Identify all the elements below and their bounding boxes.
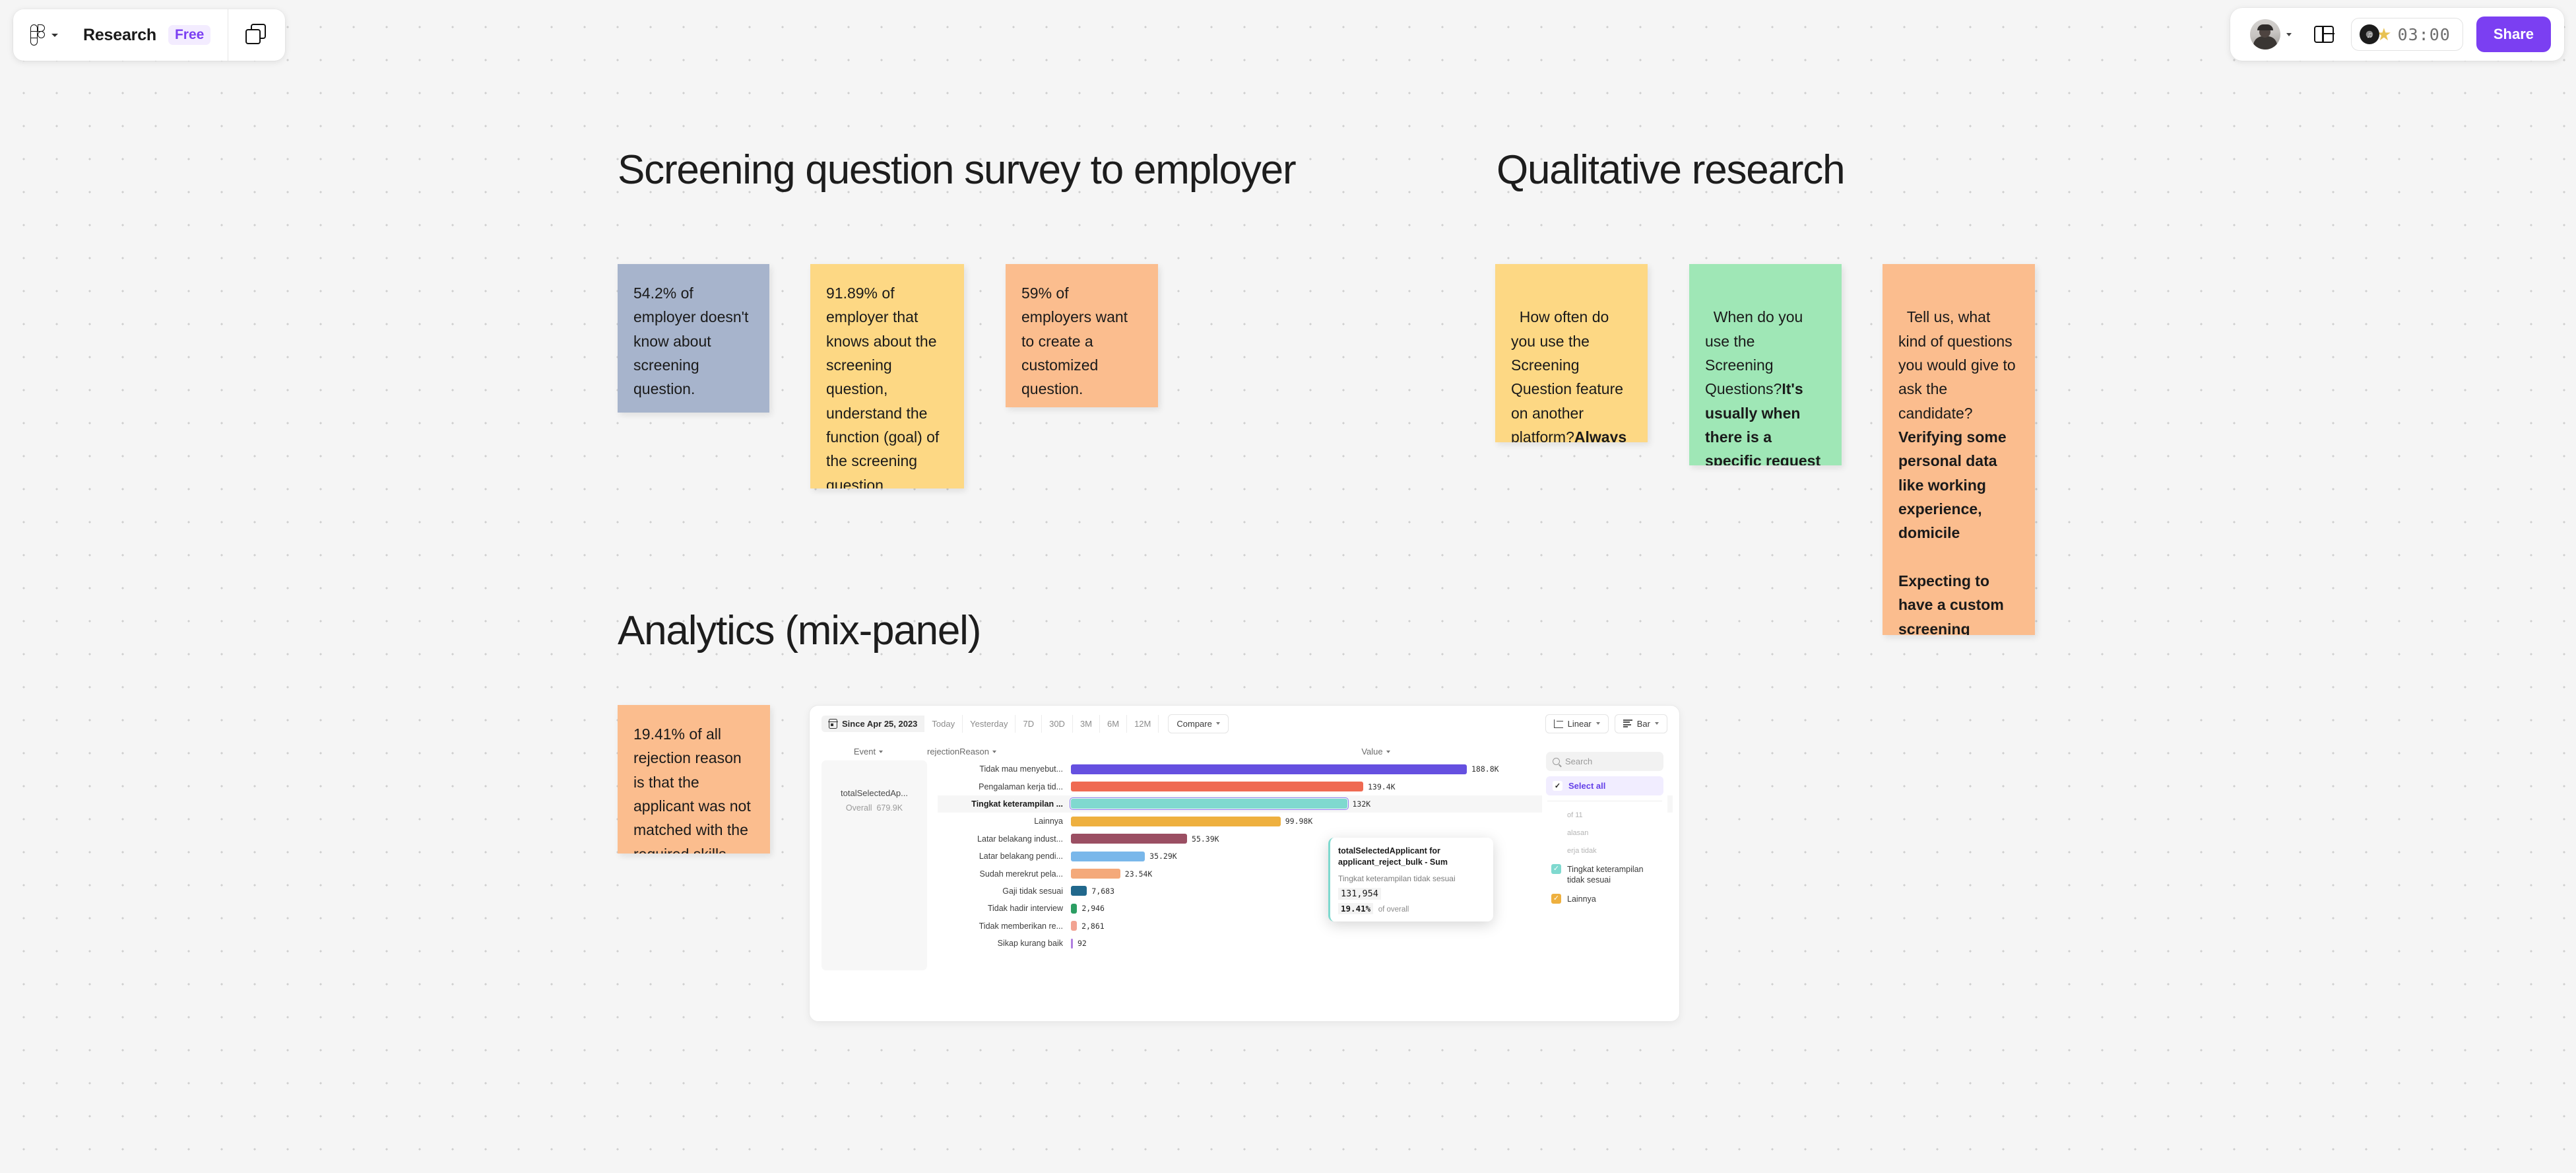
chart-controls: Linear Bar bbox=[1545, 714, 1667, 733]
checkbox-checked-icon[interactable]: ✓ bbox=[1553, 781, 1562, 791]
time-preset-yesterday[interactable]: Yesterday bbox=[963, 715, 1015, 733]
calendar-icon bbox=[829, 719, 837, 729]
divider bbox=[1547, 801, 1662, 801]
chevron-down-icon bbox=[1596, 722, 1600, 725]
time-preset-12m[interactable]: 12M bbox=[1127, 715, 1159, 733]
plan-badge[interactable]: Free bbox=[168, 25, 210, 45]
legend-items: ✓of 11✓alasan✓erja tidak✓Tingkat keteram… bbox=[1546, 807, 1663, 908]
chart-bar-wrap: 92 bbox=[1071, 939, 1673, 949]
chart-row-label: Lainnya bbox=[938, 817, 1071, 826]
page-title[interactable]: Research bbox=[83, 26, 156, 45]
select-all-label: Select all bbox=[1568, 781, 1605, 791]
mixpanel-toolbar: Since Apr 25, 2023 Today Yesterday 7D 30… bbox=[810, 706, 1679, 736]
chart-row-label: Pengalaman kerja tid... bbox=[938, 782, 1071, 791]
chevron-down-icon bbox=[1216, 722, 1220, 725]
sticky-question: How often do you use the Screening Quest… bbox=[1511, 308, 1627, 442]
chart-type-dropdown[interactable]: Bar bbox=[1615, 714, 1667, 733]
chart-bar[interactable] bbox=[1071, 904, 1077, 914]
sticky-note[interactable]: How often do you use the Screening Quest… bbox=[1495, 264, 1648, 442]
chart-type-label: Bar bbox=[1637, 719, 1650, 729]
user-avatar-group[interactable] bbox=[2250, 19, 2292, 50]
chart-bar[interactable] bbox=[1071, 852, 1145, 861]
checkbox-checked-icon[interactable]: ✓ bbox=[1551, 864, 1561, 874]
event-overall: Overall 679.9K bbox=[821, 803, 927, 813]
timer-display[interactable]: 03:00 bbox=[2398, 25, 2451, 44]
search-icon bbox=[1553, 758, 1560, 765]
chevron-down-icon[interactable] bbox=[51, 34, 58, 37]
chevron-down-icon bbox=[992, 751, 996, 753]
legend-item[interactable]: ✓Tingkat keterampilan tidak sesuai bbox=[1546, 860, 1663, 890]
pages-icon[interactable] bbox=[245, 24, 268, 46]
chart-bar[interactable] bbox=[1071, 869, 1120, 879]
chart-row[interactable]: Sikap kurang baik92 bbox=[938, 935, 1673, 952]
time-preset-30d[interactable]: 30D bbox=[1042, 715, 1073, 733]
legend-item-label: erja tidak bbox=[1567, 846, 1597, 855]
event-summary-box: totalSelectedAp... Overall 679.9K bbox=[821, 760, 927, 970]
column-header-value-label: Value bbox=[1361, 747, 1382, 756]
compare-label: Compare bbox=[1176, 719, 1211, 729]
sticky-note[interactable]: 54.2% of employer doesn't know about scr… bbox=[618, 264, 769, 413]
chevron-down-icon bbox=[1386, 751, 1390, 753]
legend-item-label: of 11 bbox=[1567, 811, 1583, 820]
chart-bar-value: 2,946 bbox=[1081, 904, 1105, 913]
search-placeholder: Search bbox=[1565, 756, 1592, 766]
scale-dropdown[interactable]: Linear bbox=[1545, 714, 1609, 733]
chart-row-label: Tidak mau menyebut... bbox=[938, 764, 1071, 774]
chart-bar[interactable] bbox=[1071, 817, 1281, 826]
section-heading-analytics: Analytics (mix-panel) bbox=[618, 607, 981, 654]
chart-bar-value: 139.4K bbox=[1368, 782, 1396, 791]
time-preset-7d[interactable]: 7D bbox=[1015, 715, 1042, 733]
scale-label: Linear bbox=[1568, 719, 1592, 729]
tooltip-percent-value: 19.41% bbox=[1338, 903, 1373, 914]
chart-row-label: Sikap kurang baik bbox=[938, 939, 1071, 948]
chart-bar-value: 7,683 bbox=[1091, 887, 1114, 896]
chart-row-label: Tidak memberikan re... bbox=[938, 922, 1071, 931]
legend-item[interactable]: ✓Lainnya bbox=[1546, 890, 1663, 908]
date-range-button[interactable]: Since Apr 25, 2023 bbox=[821, 716, 924, 732]
section-heading-qualitative: Qualitative research bbox=[1497, 147, 1844, 193]
tooltip-percent-suffix: of overall bbox=[1378, 906, 1409, 914]
chevron-down-icon bbox=[879, 751, 883, 753]
tooltip-percent: 19.41% of overall bbox=[1338, 904, 1484, 914]
chart-bar[interactable] bbox=[1071, 764, 1467, 774]
chart-bar-value: 2,861 bbox=[1081, 922, 1105, 931]
sticky-note[interactable]: 59% of employers want to create a custom… bbox=[1006, 264, 1158, 407]
chart-row-label: Tidak hadir interview bbox=[938, 904, 1071, 913]
legend-item-label: Tingkat keterampilan tidak sesuai bbox=[1567, 864, 1658, 886]
chart-bar-value: 92 bbox=[1078, 939, 1087, 948]
sticky-note[interactable]: 19.41% of all rejection reason is that t… bbox=[618, 705, 770, 854]
chart-bar[interactable] bbox=[1071, 886, 1087, 896]
layout-panel-icon[interactable] bbox=[2314, 26, 2334, 43]
date-range-label: Since Apr 25, 2023 bbox=[842, 719, 917, 729]
column-header-reason[interactable]: rejectionReason bbox=[927, 747, 1072, 756]
pages-group[interactable] bbox=[228, 9, 285, 61]
sticky-note[interactable]: When do you use the Screening Questions?… bbox=[1689, 264, 1842, 465]
menu-group[interactable]: Research Free bbox=[13, 9, 228, 61]
bar-chart-icon bbox=[1623, 720, 1632, 728]
sticky-answer: Verifying some personal data like workin… bbox=[1898, 428, 2011, 635]
chart-bar-value: 55.39K bbox=[1192, 834, 1219, 844]
chart-bar-wrap: 2,861 bbox=[1071, 921, 1673, 931]
toolbar-left: Research Free bbox=[13, 9, 285, 61]
legend-item[interactable]: ✓of 11 bbox=[1546, 807, 1663, 824]
toolbar-right: ♫ ★ 03:00 Share bbox=[2230, 8, 2564, 61]
event-name: totalSelectedAp... bbox=[821, 788, 927, 798]
column-header-event[interactable]: Event bbox=[810, 747, 927, 756]
chart-bar-value: 188.8K bbox=[1471, 764, 1499, 774]
chart-bar-value: 23.54K bbox=[1125, 869, 1153, 879]
legend-search[interactable]: Search bbox=[1546, 752, 1663, 771]
chart-row-label: Sudah merekrut pela... bbox=[938, 869, 1071, 879]
chart-row-label: Gaji tidak sesuai bbox=[938, 887, 1071, 896]
figjam-logo-icon bbox=[30, 24, 45, 46]
time-preset-6m[interactable]: 6M bbox=[1100, 715, 1127, 733]
chart-bar-value: 35.29K bbox=[1149, 852, 1177, 861]
checkbox-checked-icon[interactable]: ✓ bbox=[1551, 894, 1561, 904]
sticky-note[interactable]: Tell us, what kind of questions you woul… bbox=[1883, 264, 2035, 635]
legend-panel: Search ✓ Select all ✓of 11✓alasan✓erja t… bbox=[1542, 748, 1667, 912]
legend-item[interactable]: ✓alasan bbox=[1546, 824, 1663, 842]
column-header-event-label: Event bbox=[854, 747, 876, 756]
tooltip-title: totalSelectedApplicant for applicant_rej… bbox=[1338, 846, 1484, 869]
tooltip-value: 131,954 bbox=[1338, 888, 1381, 900]
legend-item[interactable]: ✓erja tidak bbox=[1546, 842, 1663, 860]
chart-bar-value: 132K bbox=[1352, 799, 1370, 809]
chart-bar[interactable] bbox=[1071, 799, 1347, 809]
chevron-down-icon[interactable] bbox=[2286, 33, 2292, 36]
chart-row[interactable]: Tidak memberikan re...2,861 bbox=[938, 918, 1673, 935]
time-preset-today[interactable]: Today bbox=[924, 715, 963, 733]
legend-item-label: Lainnya bbox=[1567, 894, 1596, 904]
chart-tooltip: totalSelectedApplicant for applicant_rej… bbox=[1328, 838, 1493, 922]
sticky-note[interactable]: 91.89% of employer that knows about the … bbox=[810, 264, 964, 488]
sticky-question: Tell us, what kind of questions you woul… bbox=[1898, 308, 2020, 421]
chart-row-label: Latar belakang indust... bbox=[938, 834, 1071, 844]
compare-dropdown[interactable]: Compare bbox=[1168, 714, 1228, 733]
select-all-row[interactable]: ✓ Select all bbox=[1546, 776, 1663, 795]
time-preset-3m[interactable]: 3M bbox=[1073, 715, 1100, 733]
chart-bar-value: 99.98K bbox=[1285, 817, 1313, 826]
share-button[interactable]: Share bbox=[2476, 17, 2551, 52]
chart-row-label: Latar belakang pendi... bbox=[938, 852, 1071, 861]
chart-bar[interactable] bbox=[1071, 782, 1363, 791]
mixpanel-chart-screenshot: Since Apr 25, 2023 Today Yesterday 7D 30… bbox=[809, 705, 1680, 1022]
tooltip-subtitle: Tingkat keterampilan tidak sesuai bbox=[1338, 874, 1484, 883]
column-header-reason-label: rejectionReason bbox=[927, 747, 989, 756]
music-timer-widget[interactable]: ♫ ★ 03:00 bbox=[2351, 18, 2463, 51]
linear-scale-icon bbox=[1554, 720, 1563, 728]
chart-bar[interactable] bbox=[1071, 921, 1077, 931]
chart-bar[interactable] bbox=[1071, 939, 1073, 949]
chart-bar[interactable] bbox=[1071, 834, 1187, 844]
chevron-down-icon bbox=[1655, 722, 1659, 725]
section-heading-screening: Screening question survey to employer bbox=[618, 147, 1295, 193]
legend-item-label: alasan bbox=[1567, 828, 1588, 838]
chart-row-label: Tingkat keterampilan ... bbox=[938, 799, 1071, 809]
avatar[interactable] bbox=[2250, 19, 2280, 50]
